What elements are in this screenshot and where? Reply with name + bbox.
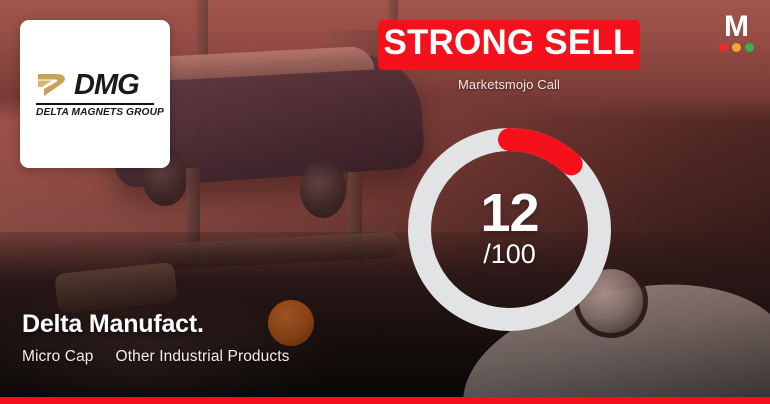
call-badge: STRONG SELL (378, 20, 640, 70)
sector-label: Other Industrial Products (116, 348, 290, 366)
gauge-score-value: 12 (480, 188, 538, 239)
gauge-readout: 12 /100 (404, 124, 615, 335)
brand-dot-orange (732, 43, 741, 52)
market-cap-label: Micro Cap (22, 348, 94, 366)
company-logo-wordmark: DMG (74, 71, 139, 100)
gauge-score-total: /100 (483, 240, 536, 270)
brand-dots (716, 43, 756, 52)
logo-divider (36, 103, 154, 105)
brand-dot-green (745, 43, 754, 52)
brand-dot-red (719, 43, 728, 52)
call-section: STRONG SELL Marketsmojo Call (378, 20, 640, 92)
company-name: Delta Manufact. (22, 310, 289, 339)
company-meta: Micro Cap Other Industrial Products (22, 348, 289, 366)
marketsmojo-logo: M (716, 14, 756, 52)
score-gauge: 12 /100 (404, 124, 615, 335)
stock-summary-card: DMG DELTA MAGNETS GROUP M STRONG SELL Ma… (0, 0, 770, 404)
company-info: Delta Manufact. Micro Cap Other Industri… (22, 310, 289, 366)
company-logo-tagline: DELTA MAGNETS GROUP (36, 107, 154, 118)
dmg-arrow-icon (36, 70, 72, 100)
brand-letter: M (716, 14, 756, 40)
company-logo-card: DMG DELTA MAGNETS GROUP (20, 20, 170, 168)
bottom-accent-bar (0, 397, 770, 404)
call-sublabel: Marketsmojo Call (378, 77, 640, 92)
